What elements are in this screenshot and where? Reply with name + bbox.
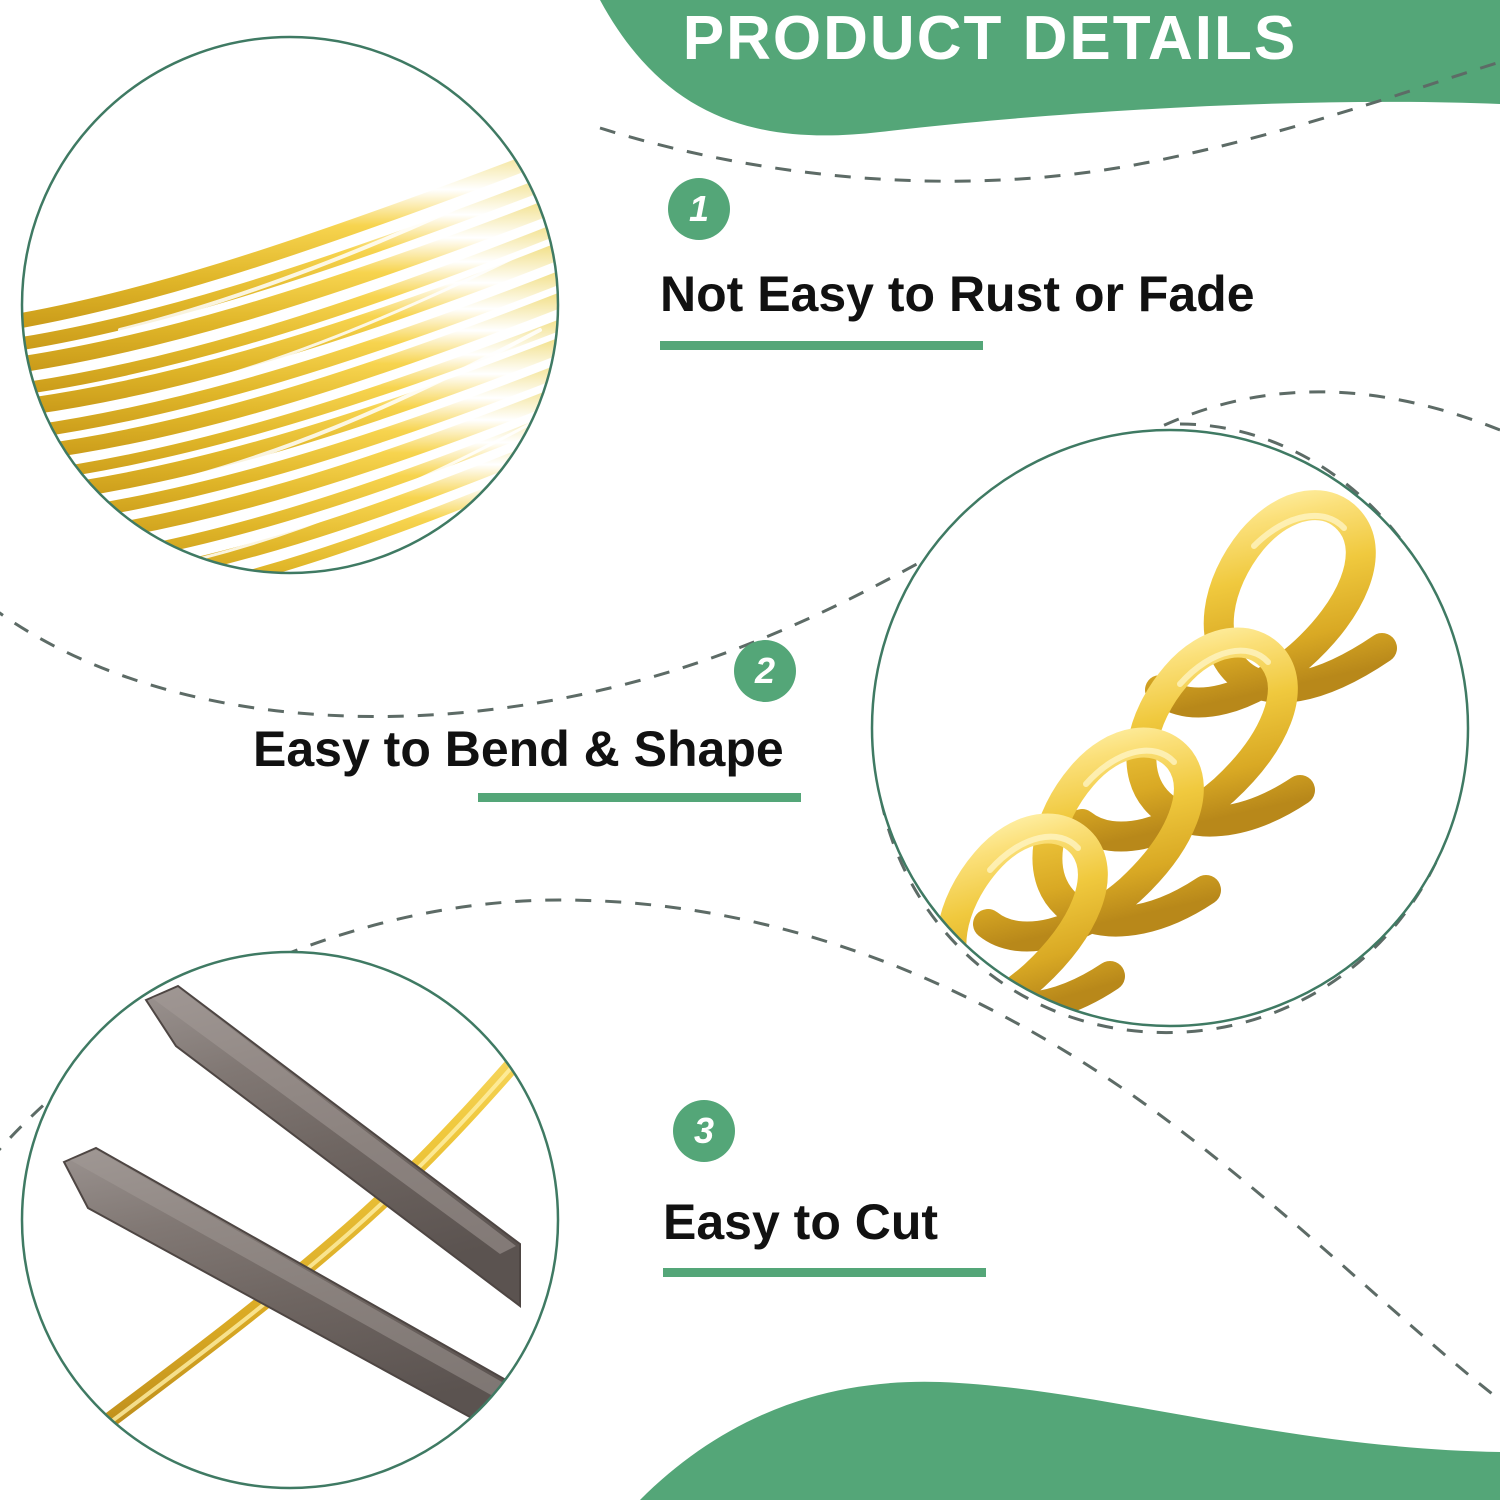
feature-2-underline: [478, 793, 801, 802]
feature-1-number-badge: 1: [668, 178, 730, 240]
feature-3-underline: [663, 1268, 986, 1277]
wire-coil-photo: [0, 20, 600, 620]
feature-1-underline: [660, 341, 983, 350]
wire-spiral-photo: [860, 420, 1480, 1040]
feature-2-number-badge: 2: [734, 640, 796, 702]
feature-3-title: Easy to Cut: [663, 1196, 938, 1249]
product-details-infographic: PRODUCT DETAILS 1 Not Easy to Rust or Fa…: [0, 0, 1500, 1500]
page-title: PRODUCT DETAILS: [640, 8, 1340, 70]
feature-1-title: Not Easy to Rust or Fade: [660, 268, 1255, 321]
feature-3-number-badge: 3: [673, 1100, 735, 1162]
wire-cutting-photo: [0, 940, 600, 1500]
feature-2-title: Easy to Bend & Shape: [253, 723, 784, 776]
